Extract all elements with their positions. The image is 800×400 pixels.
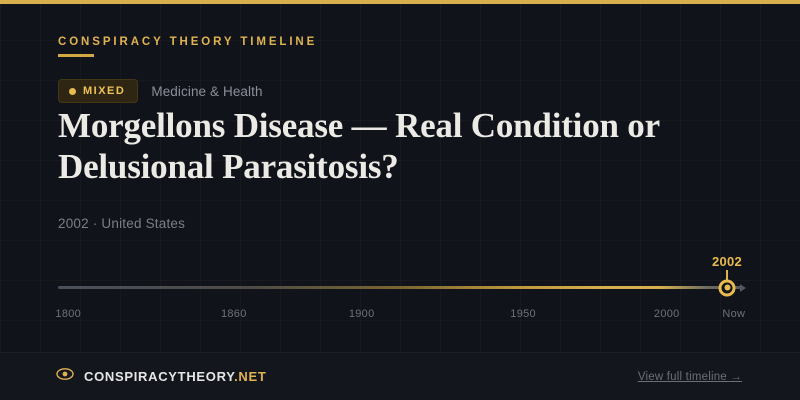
- timeline-track[interactable]: [58, 286, 742, 289]
- timeline-arrow-icon: [740, 284, 746, 292]
- timeline-tick: 2000: [654, 308, 680, 320]
- marker-ring-icon: [719, 279, 736, 296]
- brand-name: CONSPIRACYTHEORY.NET: [84, 369, 267, 384]
- status-badge[interactable]: MIXED: [58, 79, 138, 103]
- brand-name-text: CONSPIRACYTHEORY: [84, 369, 234, 384]
- eyebrow-block: CONSPIRACY THEORY TIMELINE: [58, 36, 317, 57]
- brand-block[interactable]: CONSPIRACYTHEORY.NET: [56, 367, 267, 386]
- dot-icon: [69, 88, 76, 95]
- footer-bar: CONSPIRACYTHEORY.NET View full timeline …: [0, 352, 800, 400]
- timeline-ticks: 1800 1860 1900 1950 2000 Now: [58, 308, 742, 326]
- eyebrow-label: CONSPIRACY THEORY TIMELINE: [58, 36, 317, 48]
- brand-tld-text: .NET: [234, 369, 266, 384]
- badge-row: MIXED Medicine & Health: [58, 79, 263, 103]
- timeline-tick: Now: [722, 308, 745, 320]
- category-label: Medicine & Health: [151, 84, 262, 99]
- marker-year-label: 2002: [712, 254, 742, 269]
- top-accent-bar: [0, 0, 800, 4]
- eyebrow-underline: [58, 54, 94, 57]
- timeline-tick: 1950: [510, 308, 536, 320]
- view-full-timeline-link[interactable]: View full timeline →: [638, 371, 742, 383]
- marker-core-dot: [724, 285, 730, 291]
- conspiracy-timeline-card: CONSPIRACY THEORY TIMELINE MIXED Medicin…: [0, 0, 800, 400]
- meta-line: 2002 · United States: [58, 216, 185, 231]
- timeline-widget[interactable]: 2002 1800 1860 1900 1950 2000 Now: [58, 258, 742, 328]
- timeline-tick: 1860: [221, 308, 247, 320]
- page-title: Morgellons Disease — Real Condition or D…: [58, 105, 758, 188]
- timeline-marker[interactable]: [719, 279, 736, 296]
- background-grid: [0, 0, 800, 400]
- eye-logo-icon: [56, 367, 74, 386]
- timeline-tick: 1800: [55, 308, 81, 320]
- timeline-tick: 1900: [349, 308, 375, 320]
- status-badge-label: MIXED: [83, 86, 125, 97]
